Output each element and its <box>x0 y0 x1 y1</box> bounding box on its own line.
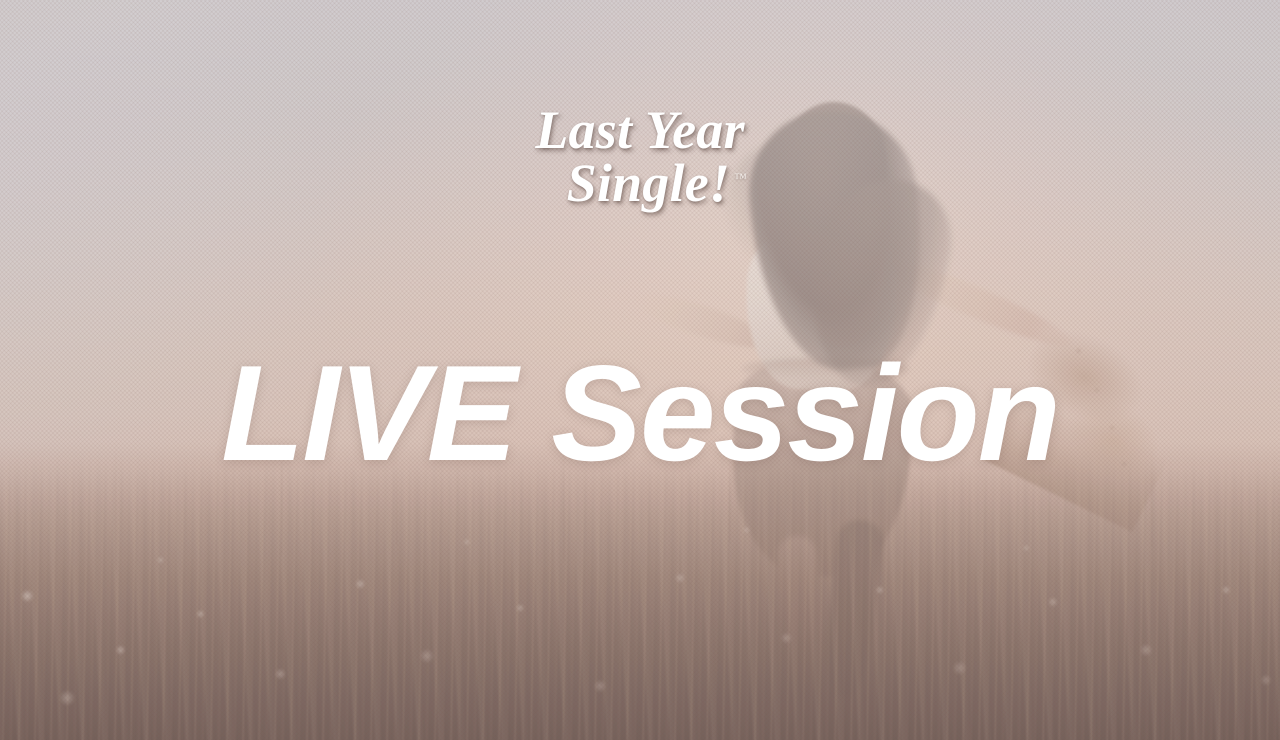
thumbnail-canvas: Last Year Single!™ LIVE Session <box>0 0 1280 740</box>
page-title: LIVE Session <box>0 344 1280 483</box>
brand-logo-line-2-text: Single! <box>567 153 730 213</box>
brand-logo: Last Year Single!™ <box>0 104 1280 210</box>
trademark-icon: ™ <box>734 170 747 185</box>
brand-logo-line-1: Last Year <box>0 104 1280 157</box>
brand-logo-line-2: Single!™ <box>0 157 1280 210</box>
